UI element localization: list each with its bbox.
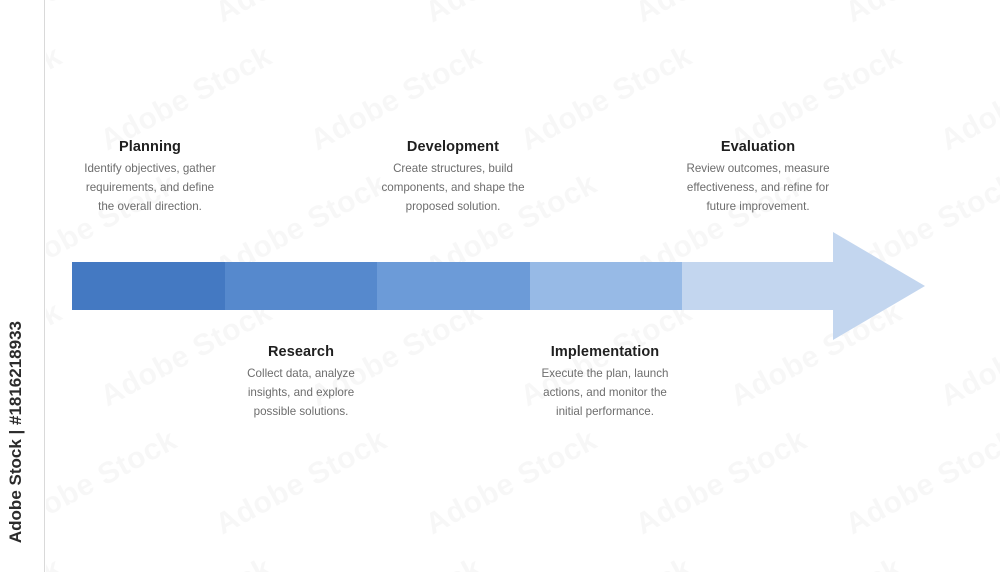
credit-divider (44, 0, 45, 572)
step-block-research: ResearchCollect data, analyze insights, … (228, 344, 374, 421)
step-block-development: DevelopmentCreate structures, build comp… (380, 139, 526, 216)
step-title-development: Development (380, 139, 526, 155)
adobe-stock-credit-label: Adobe Stock | #1816218933 (6, 321, 26, 543)
arrow-segment-development (377, 228, 531, 344)
step-title-implementation: Implementation (532, 344, 678, 360)
step-description-implementation: Execute the plan, launch actions, and mo… (532, 365, 678, 421)
arrow-segment-implementation (530, 228, 683, 344)
step-title-research: Research (228, 344, 374, 360)
arrow-segment-evaluation (682, 228, 833, 344)
step-title-planning: Planning (78, 139, 222, 155)
step-description-development: Create structures, build components, and… (380, 160, 526, 216)
process-arrow (0, 0, 1000, 572)
process-arrow-svg (0, 0, 1000, 572)
arrow-segment-planning (72, 228, 226, 344)
step-description-planning: Identify objectives, gather requirements… (78, 160, 222, 216)
adobe-stock-credit: Adobe Stock | #1816218933 (6, 321, 38, 548)
step-title-evaluation: Evaluation (682, 139, 834, 155)
step-block-implementation: ImplementationExecute the plan, launch a… (532, 344, 678, 421)
step-block-evaluation: EvaluationReview outcomes, measure effec… (682, 139, 834, 216)
step-description-research: Collect data, analyze insights, and expl… (228, 365, 374, 421)
step-description-evaluation: Review outcomes, measure effectiveness, … (682, 160, 834, 216)
arrow-head (833, 228, 931, 344)
arrow-segment-research (225, 228, 378, 344)
step-block-planning: PlanningIdentify objectives, gather requ… (78, 139, 222, 216)
arrow-segments (72, 228, 931, 344)
